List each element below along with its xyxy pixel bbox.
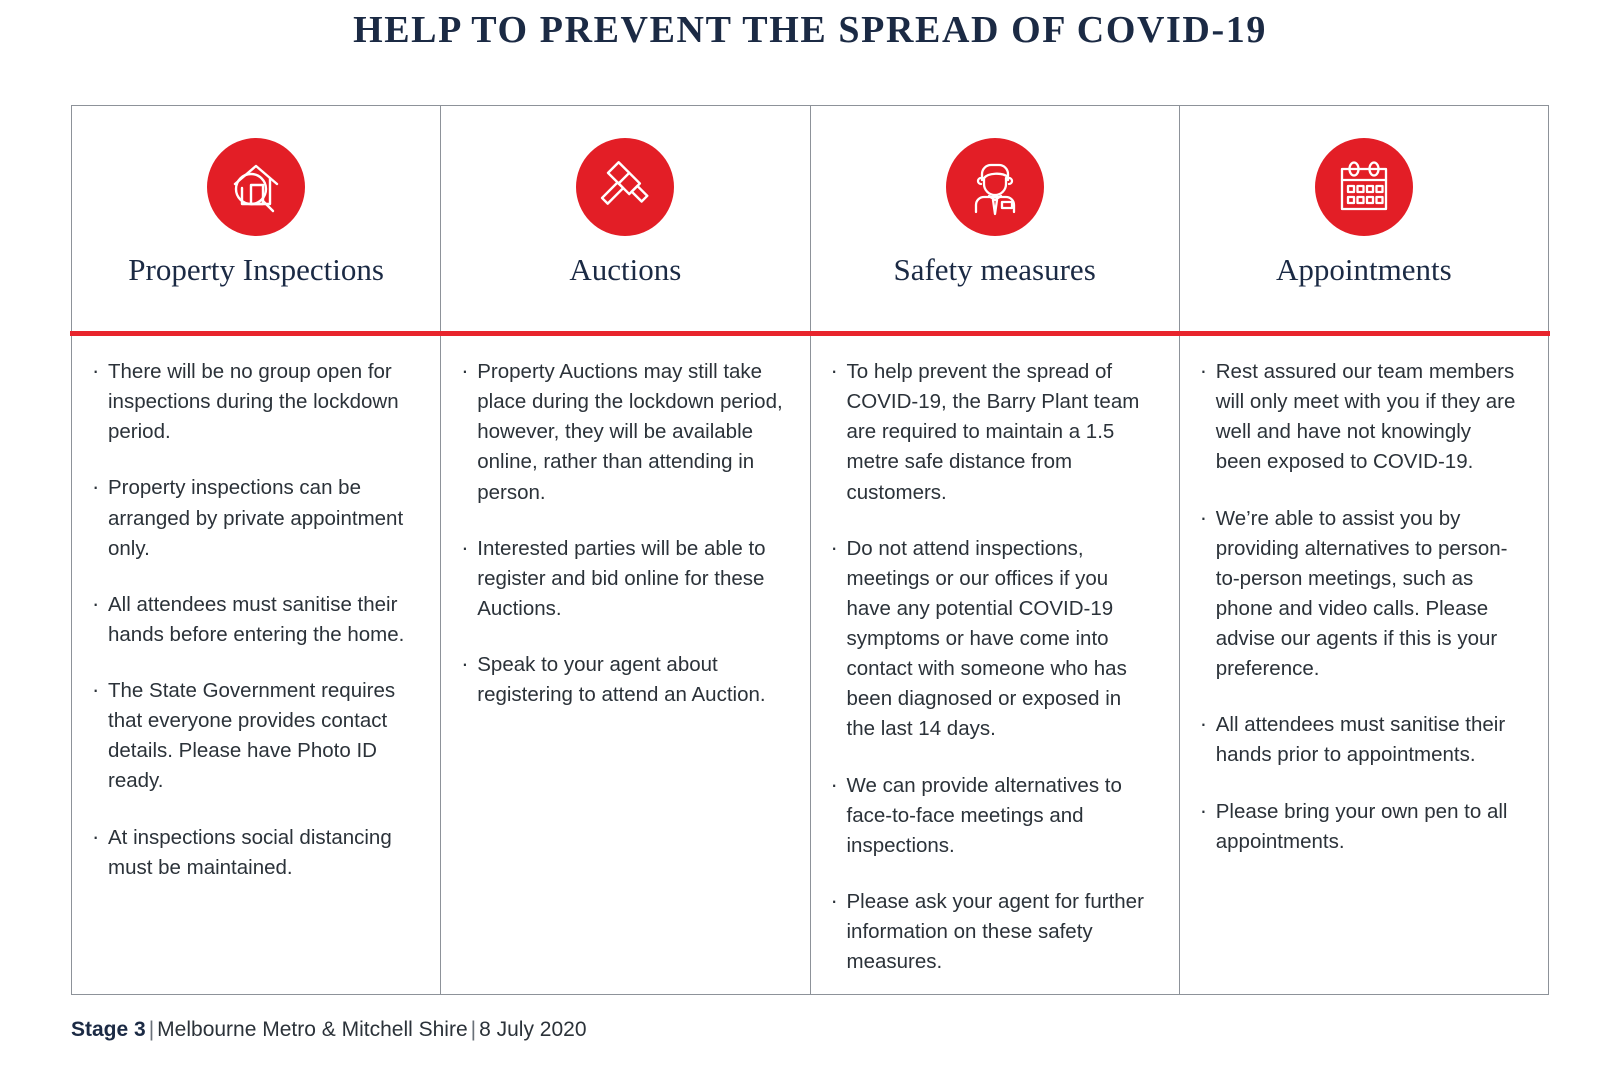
list-item: We’re able to assist you by providing al… [1198, 504, 1522, 685]
house-magnifier-icon [207, 138, 305, 236]
list-item: Property Auctions may still take place d… [459, 357, 783, 508]
info-table: Property Inspections There will be no gr… [71, 105, 1549, 995]
list-item: Speak to your agent about registering to… [459, 650, 783, 710]
list-item: Property inspections can be arranged by … [90, 473, 414, 563]
bullet-list: Rest assured our team members will only … [1198, 357, 1522, 857]
column-title: Property Inspections [128, 252, 384, 288]
column-header-safety-measures: Safety measures [811, 106, 1179, 331]
list-item: The State Government requires that every… [90, 676, 414, 797]
list-item: To help prevent the spread of COVID-19, … [829, 357, 1153, 508]
column-safety-measures: Safety measures To help prevent the spre… [811, 106, 1180, 994]
calendar-icon [1315, 138, 1413, 236]
list-item: Please bring your own pen to all appoint… [1198, 797, 1522, 857]
column-title: Appointments [1276, 252, 1452, 288]
list-item: Rest assured our team members will only … [1198, 357, 1522, 478]
column-title: Safety measures [893, 252, 1095, 288]
gavel-icon [576, 138, 674, 236]
list-item: We can provide alternatives to face-to-f… [829, 771, 1153, 861]
column-body-safety-measures: To help prevent the spread of COVID-19, … [811, 331, 1179, 994]
list-item: All attendees must sanitise their hands … [90, 590, 414, 650]
column-property-inspections: Property Inspections There will be no gr… [72, 106, 441, 994]
column-auctions: Auctions Property Auctions may still tak… [441, 106, 810, 994]
footer-region: Melbourne Metro & Mitchell Shire [157, 1018, 467, 1041]
footer-separator-2: | [468, 1018, 479, 1041]
infographic-page: HELP TO PREVENT THE SPREAD OF COVID-19 P… [0, 0, 1620, 1080]
footer-stage: Stage 3 [71, 1018, 146, 1041]
footer-date: 8 July 2020 [479, 1018, 586, 1041]
column-title: Auctions [569, 252, 681, 288]
list-item: Interested parties will be able to regis… [459, 534, 783, 624]
column-header-auctions: Auctions [441, 106, 809, 331]
list-item: At inspections social distancing must be… [90, 823, 414, 883]
column-body-appointments: Rest assured our team members will only … [1180, 331, 1548, 994]
list-item: Do not attend inspections, meetings or o… [829, 534, 1153, 745]
column-header-appointments: Appointments [1180, 106, 1548, 331]
column-body-property-inspections: There will be no group open for inspecti… [72, 331, 440, 994]
column-appointments: Appointments Rest assured our team membe… [1180, 106, 1548, 994]
footer-separator-1: | [146, 1018, 157, 1041]
agent-person-icon [946, 138, 1044, 236]
column-body-auctions: Property Auctions may still take place d… [441, 331, 809, 994]
bullet-list: To help prevent the spread of COVID-19, … [829, 357, 1153, 977]
list-item: Please ask your agent for further inform… [829, 887, 1153, 977]
header-divider-rule [70, 331, 1550, 336]
bullet-list: There will be no group open for inspecti… [90, 357, 414, 883]
column-header-property-inspections: Property Inspections [72, 106, 440, 331]
list-item: There will be no group open for inspecti… [90, 357, 414, 447]
list-item: All attendees must sanitise their hands … [1198, 710, 1522, 770]
page-title: HELP TO PREVENT THE SPREAD OF COVID-19 [0, 0, 1620, 52]
bullet-list: Property Auctions may still take place d… [459, 357, 783, 710]
footer-caption: Stage 3|Melbourne Metro & Mitchell Shire… [71, 1018, 587, 1042]
